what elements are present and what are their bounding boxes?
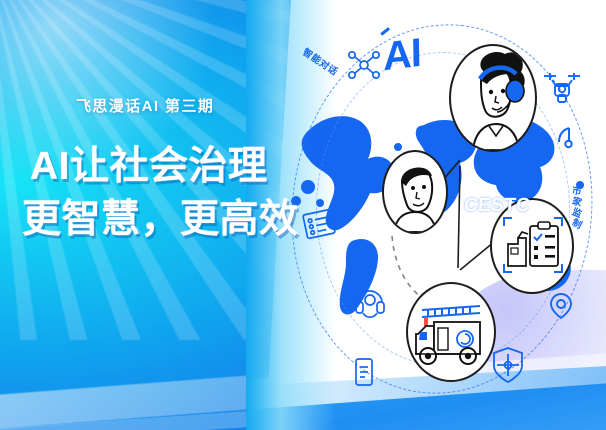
map-pin-icon <box>548 290 574 322</box>
microphone-icon <box>303 126 333 160</box>
headset-support-icon <box>352 283 388 319</box>
page-title: AI让社会治理 更智慧，更高效 <box>30 140 300 246</box>
curved-label-right-char-4: 制 <box>569 217 585 232</box>
operator-headset-avatar[interactable] <box>449 44 537 152</box>
molecule-network-icon <box>346 47 382 83</box>
curved-label-right: 市 家 监 制 <box>571 186 583 230</box>
page-title-line-2: 更智慧，更高效 <box>22 193 300 246</box>
page-title-line-1: AI让社会治理 <box>30 140 300 193</box>
document-lines-icon <box>299 204 339 244</box>
headline-block: 飞思漫话AI 第三期 AI让社会治理 更智慧，更高效 <box>0 0 300 430</box>
shield-target-icon <box>490 345 526 385</box>
series-eyebrow: 飞思漫话AI 第三期 <box>76 95 214 116</box>
citizen-avatar[interactable] <box>382 150 448 234</box>
brand-wordmark: CESTC <box>463 195 531 217</box>
fire-truck-bubble[interactable] <box>406 282 496 382</box>
drone-icon <box>540 68 584 106</box>
note-card-icon <box>352 356 376 388</box>
ai-wordmark: AI <box>383 31 422 81</box>
poster-canvas: AI CESTC 智能对话 市 家 监 制 飞思漫话AI 第三期 AI让社会治理… <box>0 0 606 430</box>
music-note-icon <box>553 125 575 151</box>
